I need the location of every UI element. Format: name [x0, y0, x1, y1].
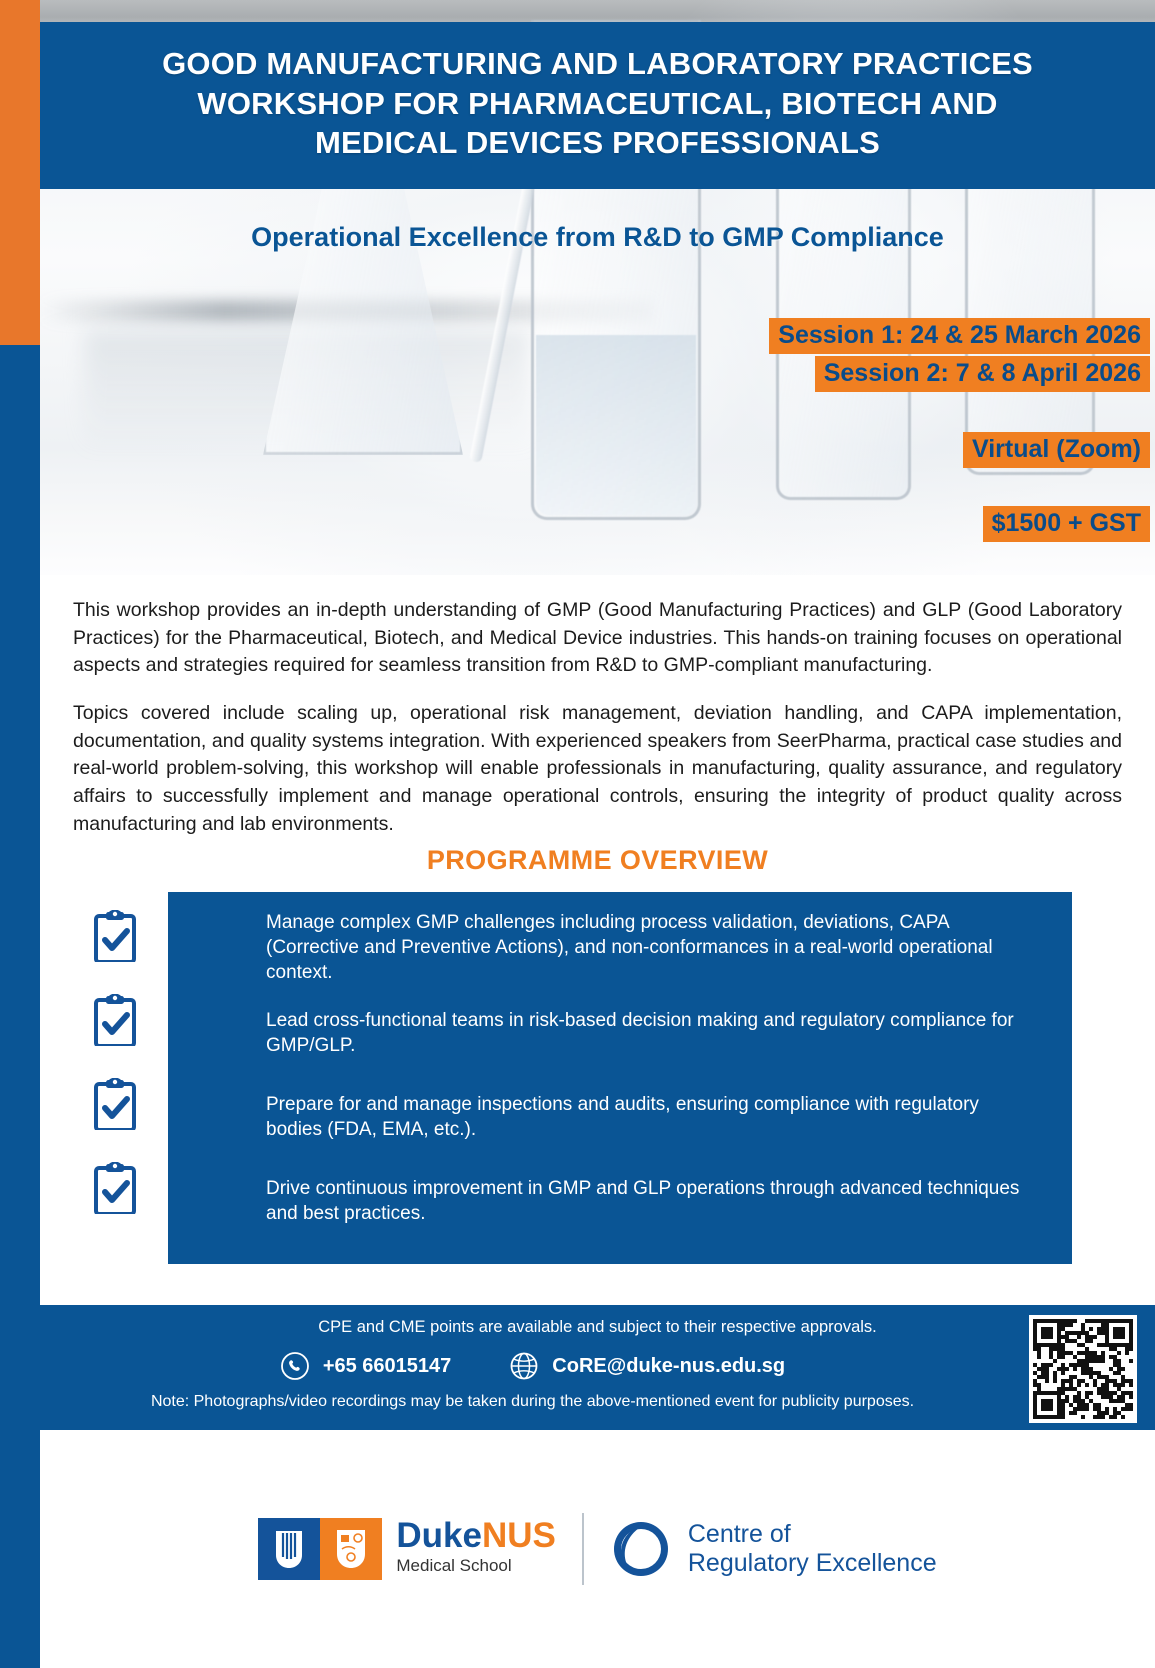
programme-bullets-region: Manage complex GMP challenges including …	[168, 892, 1072, 1264]
programme-overview-heading: PROGRAMME OVERVIEW	[73, 845, 1122, 876]
globe-icon	[509, 1351, 539, 1381]
programme-bullet: Manage complex GMP challenges including …	[266, 910, 1038, 986]
event-details-chips: Session 1: 24 & 25 March 2026 Session 2:…	[40, 318, 1155, 544]
duke-nus-wordmark: DukeNUS Medical School	[396, 1518, 556, 1580]
duke-chapel-icon	[270, 1527, 308, 1571]
medical-school-text: Medical School	[396, 1557, 556, 1574]
workshop-flyer: GOOD MANUFACTURING AND LABORATORY PRACTI…	[0, 0, 1155, 1668]
core-line-2: Regulatory Excellence	[688, 1549, 937, 1579]
nus-crest-icon	[334, 1527, 368, 1571]
footer-contact-band: CPE and CME points are available and sub…	[40, 1305, 1155, 1430]
left-orange-rail	[0, 0, 40, 345]
qr-code[interactable]	[1029, 1315, 1137, 1423]
core-logo: Centre of Regulatory Excellence	[610, 1518, 937, 1580]
page-subtitle: Operational Excellence from R&D to GMP C…	[40, 222, 1155, 253]
qr-code-modules	[1033, 1319, 1133, 1419]
core-swirl-icon	[610, 1518, 672, 1580]
phone-icon	[280, 1351, 310, 1381]
title-band: GOOD MANUFACTURING AND LABORATORY PRACTI…	[40, 22, 1155, 189]
icon-slot-2	[76, 994, 154, 1078]
clipboard-check-icon	[93, 910, 137, 962]
icon-slot-3	[76, 1078, 154, 1162]
logo-bar: DukeNUS Medical School Centre of Regulat…	[40, 1430, 1155, 1668]
logo-divider	[582, 1513, 584, 1585]
photography-notice: Note: Photographs/video recordings may b…	[40, 1393, 1155, 1411]
programme-bullet: Lead cross-functional teams in risk-base…	[266, 1008, 1038, 1070]
icon-slot-1	[76, 910, 154, 994]
nus-shield-orange	[320, 1518, 382, 1580]
duke-shield-blue	[258, 1518, 320, 1580]
phone-number: +65 66015147	[323, 1355, 451, 1378]
body-content: This workshop provides an in-depth under…	[40, 575, 1155, 1305]
core-line-1: Centre of	[688, 1520, 937, 1550]
programme-bullet: Prepare for and manage inspections and a…	[266, 1092, 1038, 1154]
bullet-icon-column	[76, 910, 154, 1246]
description-paragraph-2: Topics covered include scaling up, opera…	[73, 700, 1122, 838]
email-address: CoRE@duke-nus.edu.sg	[552, 1355, 785, 1378]
programme-bullets-box: Manage complex GMP challenges including …	[168, 892, 1072, 1264]
description-paragraph-1: This workshop provides an in-depth under…	[73, 597, 1122, 680]
clipboard-check-icon	[93, 1078, 137, 1130]
title-line-2: WORKSHOP FOR PHARMACEUTICAL, BIOTECH AND	[70, 84, 1125, 124]
cpe-cme-note: CPE and CME points are available and sub…	[40, 1305, 1155, 1337]
left-blue-rail	[0, 345, 40, 1545]
session-1-chip: Session 1: 24 & 25 March 2026	[769, 318, 1150, 354]
title-line-1: GOOD MANUFACTURING AND LABORATORY PRACTI…	[70, 44, 1125, 84]
contact-row: +65 66015147 CoRE@duke-nus.edu.sg	[40, 1351, 1155, 1381]
clipboard-check-icon	[93, 994, 137, 1046]
clipboard-check-icon	[93, 1162, 137, 1214]
phone-contact[interactable]: +65 66015147	[280, 1351, 451, 1381]
duke-nus-logo: DukeNUS Medical School	[258, 1518, 556, 1580]
delivery-mode-chip: Virtual (Zoom)	[963, 432, 1150, 468]
email-contact[interactable]: CoRE@duke-nus.edu.sg	[509, 1351, 785, 1381]
core-wordmark: Centre of Regulatory Excellence	[688, 1520, 937, 1579]
programme-bullet: Drive continuous improvement in GMP and …	[266, 1176, 1038, 1238]
title-line-3: MEDICAL DEVICES PROFESSIONALS	[70, 123, 1125, 163]
session-2-chip: Session 2: 7 & 8 April 2026	[815, 356, 1150, 392]
price-chip: $1500 + GST	[983, 506, 1150, 542]
icon-slot-4	[76, 1162, 154, 1246]
duke-word: Duke	[396, 1516, 482, 1555]
nus-word: NUS	[482, 1516, 556, 1555]
